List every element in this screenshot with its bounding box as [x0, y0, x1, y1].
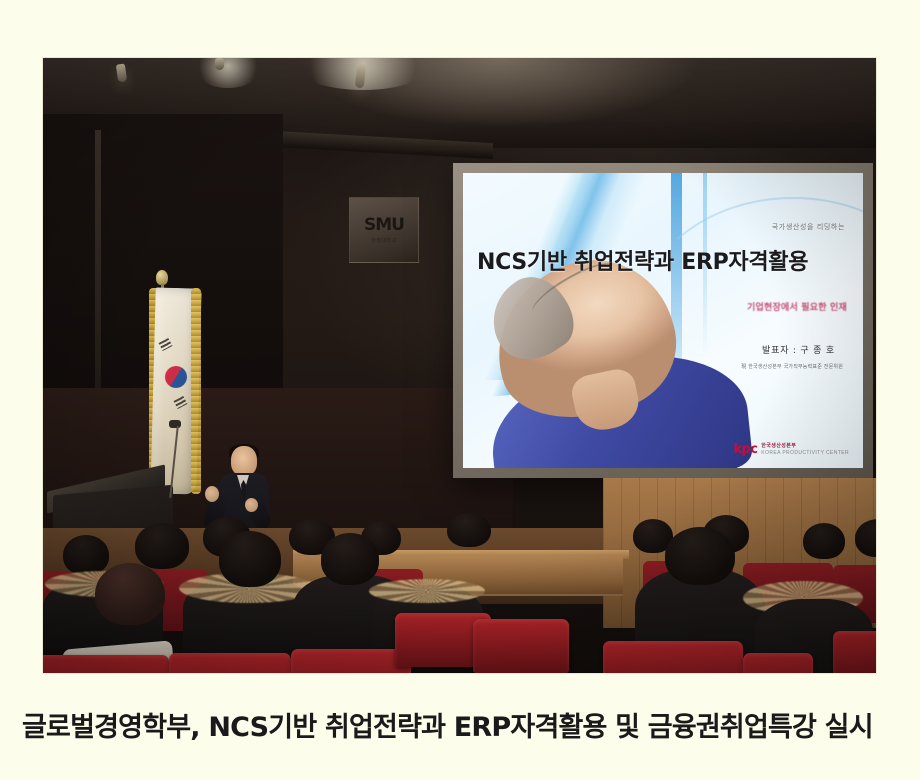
audience-head	[803, 523, 845, 559]
audience	[43, 513, 876, 673]
audience-head	[95, 563, 165, 625]
slide-eyebrow-text: 국가생산성을 리딩하는	[772, 222, 845, 232]
microphone-icon	[169, 420, 181, 428]
presenter-hand-right	[245, 498, 258, 512]
news-photo: SMU 상명대학교	[43, 58, 876, 673]
kpc-logo-text: 한국생산성본부 KOREA PRODUCTIVITY CENTER	[761, 443, 849, 456]
slide-portrait-photo	[475, 250, 723, 468]
smu-logo-subtext: 상명대학교	[371, 237, 397, 244]
slide-presenter-affiliation: 現 한국생산성본부 국가직무능력표준 전문위원	[741, 363, 843, 370]
fur-hood	[369, 579, 485, 603]
audience-head	[665, 527, 735, 585]
audience-head	[321, 533, 379, 585]
spotlight-icon	[215, 58, 224, 70]
audience-head	[855, 519, 876, 557]
flag-finial	[156, 270, 168, 285]
photo-caption: 글로벌경영학부, NCS기반 취업전략과 ERP자격활용 및 금융권취업특강 실…	[22, 705, 898, 744]
seat	[833, 631, 876, 673]
kpc-logo-mark: kpc	[733, 443, 757, 456]
page-root: SMU 상명대학교	[0, 0, 920, 780]
audience-head	[63, 535, 109, 575]
presenter-head	[231, 446, 257, 476]
seat	[473, 619, 569, 673]
smu-banner: SMU 상명대학교	[349, 197, 419, 263]
audience-head	[219, 531, 281, 587]
audience-head	[447, 513, 491, 547]
presenter-hand-left	[205, 486, 219, 502]
kpc-logo: kpc 한국생산성본부 KOREA PRODUCTIVITY CENTER	[733, 443, 849, 456]
seat	[603, 641, 743, 673]
kpc-logo-en: KOREA PRODUCTIVITY CENTER	[761, 450, 849, 456]
projector-screen-frame: 국가생산성을 리딩하는 NCS기반 취업전략과 ERP자격활용 기업현장에서 필…	[453, 163, 873, 478]
slide-title: NCS기반 취업전략과 ERP자격활용	[477, 244, 851, 276]
seat	[43, 655, 169, 673]
flag-fringe	[191, 288, 201, 494]
smu-logo-text: SMU	[364, 217, 404, 234]
photo-scene: SMU 상명대학교	[43, 58, 876, 673]
seat	[169, 653, 291, 673]
projector-screen: 국가생산성을 리딩하는 NCS기반 취업전략과 ERP자격활용 기업현장에서 필…	[463, 173, 863, 468]
audience-head	[135, 523, 189, 569]
seat	[291, 649, 411, 673]
slide-red-subtitle: 기업현장에서 필요한 인재	[747, 300, 847, 313]
seat	[743, 653, 813, 673]
slide-presenter-name: 발표자 : 구 종 호	[762, 343, 835, 356]
